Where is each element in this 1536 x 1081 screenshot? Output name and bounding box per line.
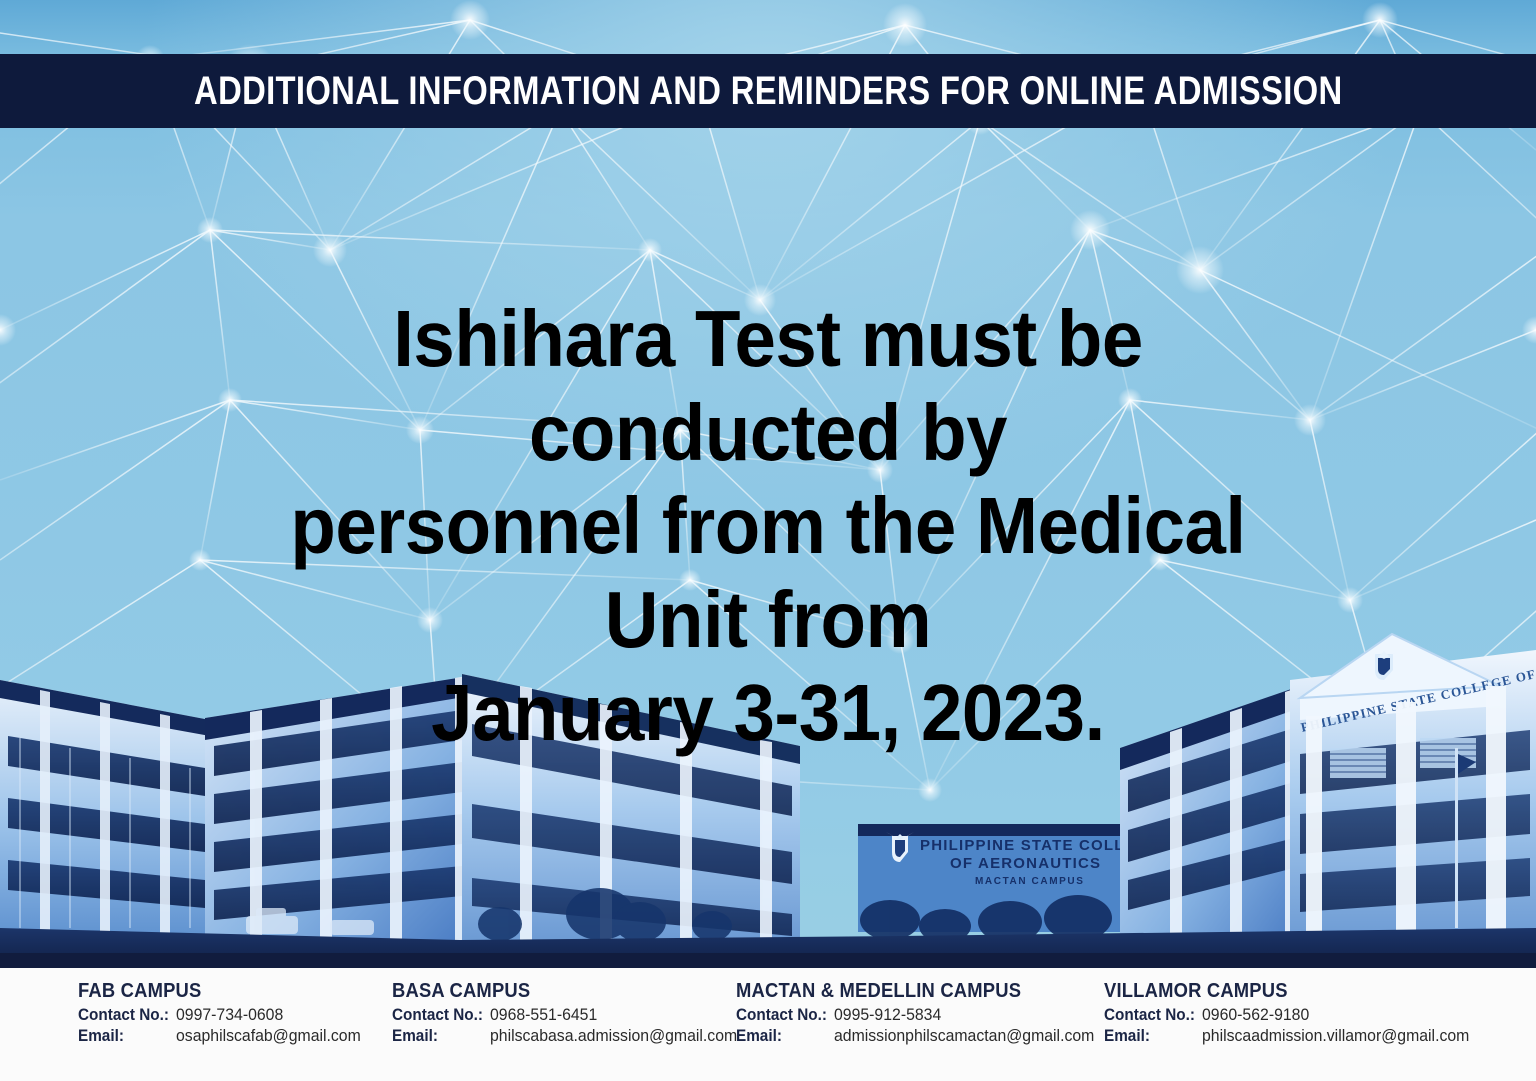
announcement-line-1: Ishihara Test must be conducted by [219, 292, 1316, 479]
campus-block-fab: FAB CAMPUS Contact No.: 0997-734-0608 Em… [78, 980, 375, 1046]
campus-block-basa: BASA CAMPUS Contact No.: 0968-551-6451 E… [392, 980, 756, 1046]
email-value[interactable]: osaphilscafab@gmail.com [176, 1026, 361, 1046]
email-label: Email: [1104, 1026, 1192, 1046]
campus-name: FAB CAMPUS [78, 980, 351, 1003]
email-value[interactable]: philscabasa.admission@gmail.com [490, 1026, 737, 1046]
campus-email-row: Email: philscaadmission.villamor@gmail.c… [1104, 1026, 1489, 1046]
campus-block-mactan-medellin: MACTAN & MEDELLIN CAMPUS Contact No.: 09… [736, 980, 1114, 1046]
campus-contact-row: Contact No.: 0995-912-5834 [736, 1005, 1114, 1025]
campus-block-villamor: VILLAMOR CAMPUS Contact No.: 0960-562-91… [1104, 980, 1489, 1046]
announcement-poster: ADDITIONAL INFORMATION AND REMINDERS FOR… [0, 0, 1536, 1081]
header-title-bar: ADDITIONAL INFORMATION AND REMINDERS FOR… [0, 54, 1536, 128]
page-title: ADDITIONAL INFORMATION AND REMINDERS FOR… [194, 71, 1342, 111]
contact-value[interactable]: 0968-551-6451 [490, 1005, 597, 1025]
campus-contact-row: Contact No.: 0968-551-6451 [392, 1005, 756, 1025]
campus-email-row: Email: admissionphilscamactan@gmail.com [736, 1026, 1114, 1046]
campus-email-row: Email: philscabasa.admission@gmail.com [392, 1026, 756, 1046]
email-value[interactable]: admissionphilscamactan@gmail.com [834, 1026, 1094, 1046]
contact-value[interactable]: 0997-734-0608 [176, 1005, 283, 1025]
email-label: Email: [78, 1026, 166, 1046]
email-label: Email: [736, 1026, 824, 1046]
contact-label: Contact No.: [78, 1005, 166, 1025]
campus-contact-row: Contact No.: 0960-562-9180 [1104, 1005, 1489, 1025]
contact-label: Contact No.: [1104, 1005, 1192, 1025]
campus-name: BASA CAMPUS [392, 980, 727, 1003]
announcement-line-2: personnel from the Medical Unit from [219, 479, 1316, 666]
campus-email-row: Email: osaphilscafab@gmail.com [78, 1026, 375, 1046]
campus-name: VILLAMOR CAMPUS [1104, 980, 1459, 1003]
contact-value[interactable]: 0960-562-9180 [1202, 1005, 1309, 1025]
announcement-text: Ishihara Test must be conducted by perso… [178, 292, 1358, 760]
contact-label: Contact No.: [392, 1005, 480, 1025]
email-value[interactable]: philscaadmission.villamor@gmail.com [1202, 1026, 1469, 1046]
contact-label: Contact No.: [736, 1005, 824, 1025]
photo-base-strip [0, 953, 1536, 968]
email-label: Email: [392, 1026, 480, 1046]
footer-contact-bar: FAB CAMPUS Contact No.: 0997-734-0608 Em… [0, 968, 1536, 1081]
campus-contact-row: Contact No.: 0997-734-0608 [78, 1005, 375, 1025]
campus-name: MACTAN & MEDELLIN CAMPUS [736, 980, 1084, 1003]
contact-value[interactable]: 0995-912-5834 [834, 1005, 941, 1025]
announcement-line-3: January 3-31, 2023. [219, 666, 1316, 760]
